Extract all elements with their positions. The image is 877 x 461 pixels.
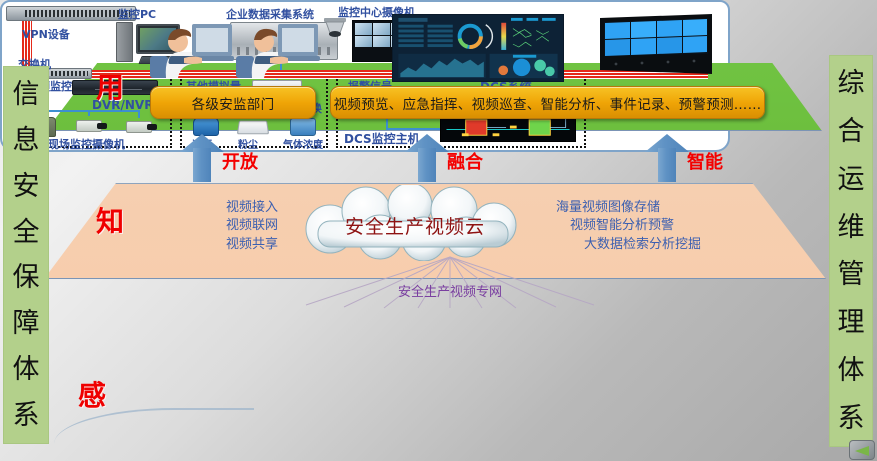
know-left-capabilities: 视频接入 视频联网 视频共享 bbox=[128, 199, 278, 254]
layer-glyph-use: 用 bbox=[96, 66, 124, 106]
capsule-safety-departments[interactable]: 各级安监部门 bbox=[150, 86, 316, 119]
up-arrow-fusion bbox=[405, 134, 449, 182]
arrow-label-intelligent: 智能 bbox=[687, 148, 723, 174]
bullet-camera-icon-2 bbox=[126, 121, 152, 133]
right-panel-char-7: 体 bbox=[838, 357, 865, 384]
cloud-title: 安全生产视频云 bbox=[284, 212, 546, 239]
left-panel-char-6: 障 bbox=[13, 310, 40, 337]
dome-camera-icon bbox=[322, 17, 348, 39]
left-panel-char-8: 系 bbox=[13, 402, 40, 429]
diagram-canvas: 各级安监部门 视频预览、应急指挥、视频巡查、智能分析、事件记录、预警预测…… 开… bbox=[0, 0, 877, 461]
arrow-stem bbox=[658, 148, 676, 182]
left-panel-char-7: 体 bbox=[13, 356, 40, 383]
capsule-application-list[interactable]: 视频预览、应急指挥、视频巡查、智能分析、事件记录、预警预测…… bbox=[330, 86, 765, 119]
arrow-stem bbox=[193, 148, 211, 182]
operators-at-computers-illustration bbox=[144, 8, 320, 80]
know-right-capabilities: 海量视频图像存储 视频智能分析预警 大数据检索分析挖掘 bbox=[556, 199, 766, 254]
right-panel-char-5: 管 bbox=[838, 261, 865, 288]
know-left-item-3: 视频共享 bbox=[128, 236, 278, 254]
arrow-label-open: 开放 bbox=[222, 148, 258, 174]
dust-sensor-icon bbox=[237, 121, 269, 135]
left-panel-char-4: 全 bbox=[13, 219, 40, 246]
label-sensor-gas: 气体浓度 bbox=[283, 136, 323, 151]
right-panel-char-1: 综 bbox=[838, 70, 865, 97]
right-panel-char-4: 维 bbox=[838, 214, 865, 241]
arrow-stem bbox=[418, 148, 436, 182]
layer-glyph-know: 知 bbox=[96, 200, 124, 240]
know-right-item-1: 海量视频图像存储 bbox=[556, 199, 766, 217]
know-left-item-2: 视频联网 bbox=[128, 217, 278, 235]
pc-tower-icon bbox=[116, 22, 133, 62]
know-right-item-2: 视频智能分析预警 bbox=[556, 217, 766, 235]
side-panel-information-security: 信 息 安 全 保 障 体 系 bbox=[3, 66, 49, 444]
right-panel-char-2: 合 bbox=[838, 118, 865, 145]
bullet-camera-icon-1 bbox=[76, 120, 102, 132]
arrow-label-fusion: 融合 bbox=[447, 148, 483, 174]
layer-glyph-sense: 感 bbox=[78, 374, 106, 414]
private-network-label: 安全生产视频专网 bbox=[300, 281, 600, 300]
left-panel-char-1: 信 bbox=[13, 81, 40, 108]
know-right-item-3: 大数据检索分析挖掘 bbox=[556, 236, 766, 254]
bi-dashboard-screen-image bbox=[392, 14, 564, 82]
left-panel-char-2: 息 bbox=[13, 127, 40, 154]
up-arrow-open bbox=[180, 134, 224, 182]
right-panel-char-6: 理 bbox=[838, 309, 865, 336]
page-curl-badge-icon bbox=[849, 440, 875, 460]
right-panel-char-3: 运 bbox=[838, 166, 865, 193]
know-left-item-1: 视频接入 bbox=[128, 199, 278, 217]
left-panel-char-5: 保 bbox=[13, 264, 40, 291]
video-wall-display-image bbox=[594, 12, 718, 80]
right-panel-char-8: 系 bbox=[838, 405, 865, 432]
wire-cam2-drop bbox=[88, 110, 90, 116]
vpn-switch-icon bbox=[6, 6, 136, 21]
label-vpn-device: VPN设备 bbox=[22, 26, 70, 42]
side-panel-integrated-ops: 综 合 运 维 管 理 体 系 bbox=[829, 55, 873, 447]
gas-sensor-icon bbox=[290, 118, 316, 136]
left-panel-char-3: 安 bbox=[13, 173, 40, 200]
up-arrow-intelligent bbox=[645, 134, 689, 182]
